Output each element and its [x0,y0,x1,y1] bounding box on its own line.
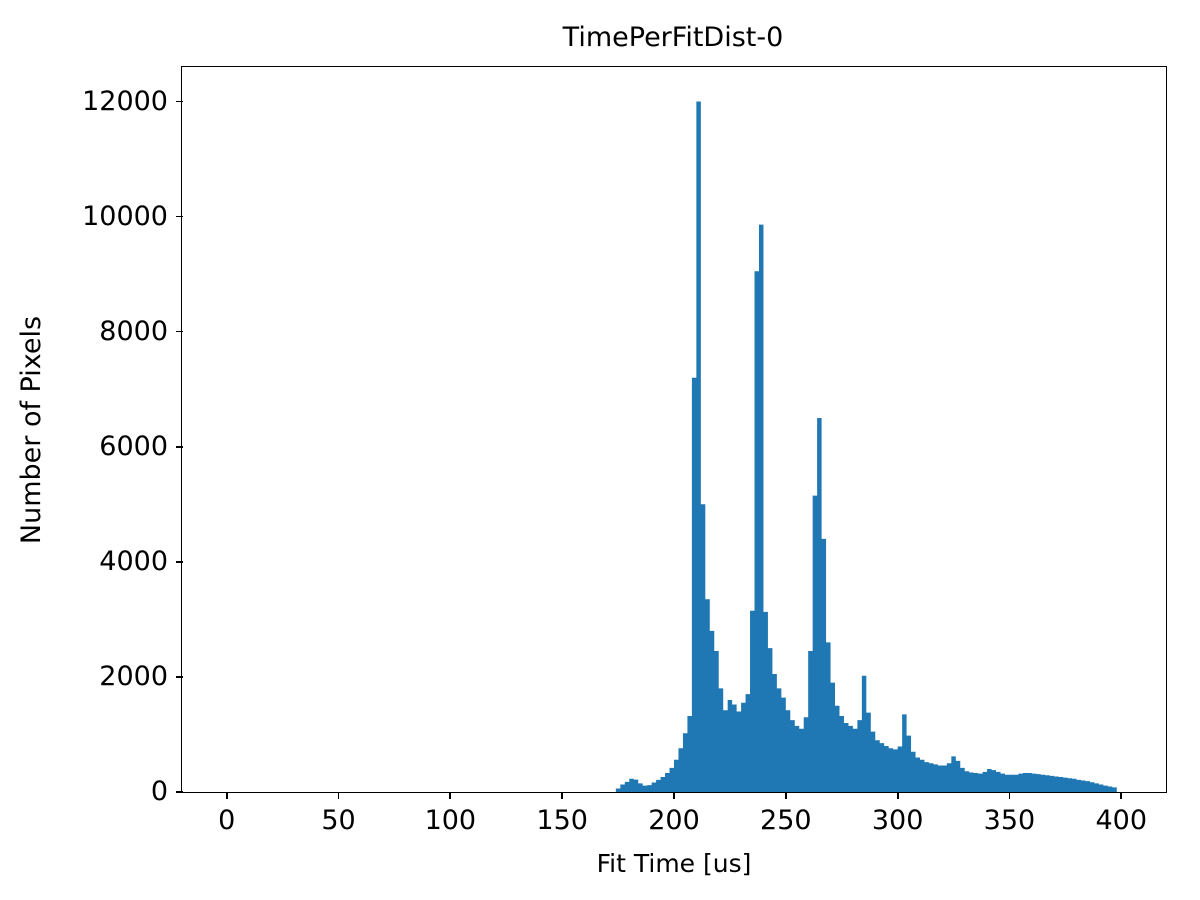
y-tick-label: 10000 [82,198,168,236]
y-tick-label: 4000 [99,543,168,581]
x-tick-label: 400 [1001,802,1200,840]
histogram-bar-path [616,102,1117,792]
y-tick-mark [176,791,183,793]
x-axis-label: Fit Time [us] [182,848,1166,880]
y-tick-mark [176,676,183,678]
y-tick-label: 8000 [99,313,168,351]
y-tick-mark [176,331,183,333]
y-tick-mark [176,101,183,103]
y-tick-mark [176,561,183,563]
x-tick-mark [338,792,340,799]
x-tick-mark [449,792,451,799]
x-tick-mark [897,792,899,799]
x-tick-mark [561,792,563,799]
x-tick-mark [1009,792,1011,799]
chart-title: TimePerFitDist-0 [181,22,1165,54]
plot-area: 020004000600080001000012000 050100150200… [181,66,1167,793]
matplotlib-figure: TimePerFitDist-0 02000400060008000100001… [0,0,1200,900]
x-tick-mark [1120,792,1122,799]
y-tick-mark [176,446,183,448]
y-tick-label: 12000 [82,83,168,121]
plot-clip [182,67,1166,792]
y-tick-label: 2000 [99,658,168,696]
y-tick-mark [176,216,183,218]
x-tick-mark [673,792,675,799]
x-tick-mark [226,792,228,799]
y-tick-label: 6000 [99,428,168,466]
y-axis-label: Number of Pixels [13,220,51,640]
x-tick-mark [785,792,787,799]
histogram-bars [182,67,1166,792]
